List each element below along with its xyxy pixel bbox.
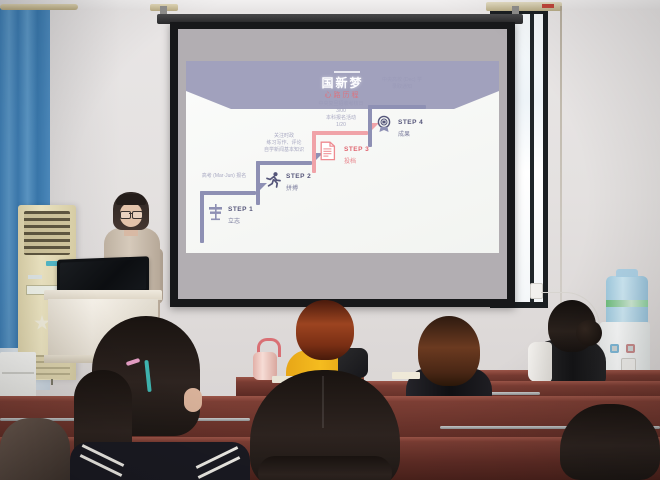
running-person-icon (264, 171, 282, 194)
step3-sublabel: 投档 (344, 156, 356, 165)
laptop-screen (60, 259, 146, 292)
step4-label: STEP 4 (398, 119, 423, 126)
student-hair-part (322, 376, 324, 428)
title-divider-rule (334, 71, 360, 73)
step3-label: STEP 3 (344, 146, 369, 153)
step2-sublabel: 拼搏 (286, 183, 298, 192)
audience-hair-bun (576, 320, 602, 346)
step2-label: STEP 2 (286, 173, 311, 180)
audience-blouse-sleeve (528, 342, 552, 382)
window-header-mark (542, 4, 554, 8)
screen-surface: 国新梦 心路历程 STEP 1 立志 (178, 29, 507, 299)
cabinet-seam (2, 372, 34, 374)
student-ear (184, 388, 202, 412)
audience-hair (418, 316, 480, 386)
eyeglasses-right-lens-icon (132, 211, 143, 219)
presenter-bangs (116, 194, 146, 205)
audience-hair (296, 300, 354, 360)
document-icon (320, 141, 336, 166)
hot-water-tap[interactable] (626, 344, 635, 353)
desk-row-mid-top (356, 381, 660, 386)
wall-seam (560, 6, 562, 336)
slide-subtitle: 心路历程 (186, 90, 499, 100)
slide-title: 国新梦 (186, 74, 499, 91)
papers-on-desk (392, 372, 420, 379)
step1-sublabel: 立志 (228, 216, 240, 225)
projection-screen: 国新梦 心路历程 STEP 1 立志 (170, 22, 515, 307)
ac-vent-grille (24, 211, 70, 255)
student-hair-lower (258, 456, 392, 480)
eyeglasses-bridge (129, 213, 132, 214)
cold-water-tap[interactable] (610, 344, 619, 353)
step4-annotation: 中央高校 (Dec) 学 录取通知 (362, 77, 442, 91)
student-hair (560, 404, 660, 480)
ac-sticker (28, 275, 42, 279)
signpost-icon (208, 203, 224, 226)
step1-annotation: 高考 (Mar·Jun) 报名 (192, 173, 256, 180)
classroom-photo: 国新梦 心路历程 STEP 1 立志 (0, 0, 660, 480)
water-bottle-label (606, 300, 648, 307)
step4-sublabel: 成果 (398, 129, 410, 138)
presentation-slide: 国新梦 心路历程 STEP 1 立志 (186, 61, 499, 253)
student-shoulder (0, 418, 70, 480)
step1-label: STEP 1 (228, 206, 253, 213)
curtain-rod (0, 4, 78, 10)
window-mullion (530, 14, 534, 302)
step2-annotation: 关注时政 练习写作、评论 自学新闻基本知识 (248, 133, 320, 154)
seal-badge-icon (376, 115, 392, 138)
